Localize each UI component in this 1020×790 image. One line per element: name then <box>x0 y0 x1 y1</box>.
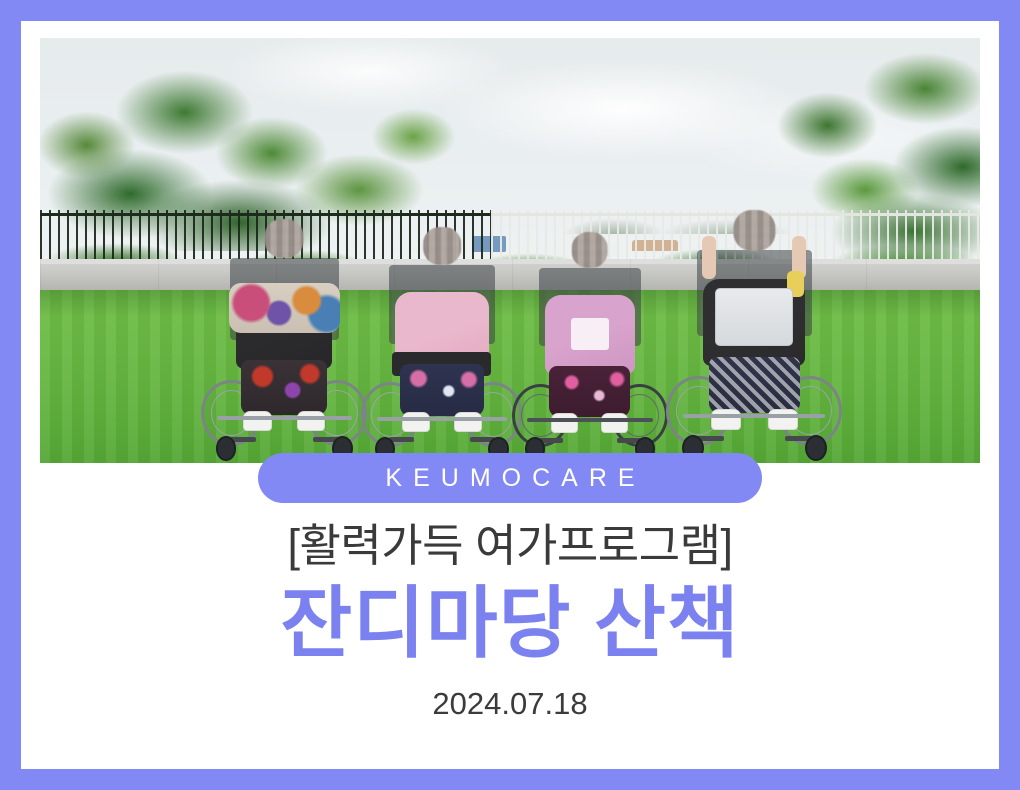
person-shoe-left <box>402 412 430 432</box>
photo-scene <box>40 38 980 463</box>
person-legs <box>400 364 483 416</box>
wheelchair-frame <box>527 418 653 422</box>
person-shoe-left <box>243 411 272 432</box>
pixelated-face <box>265 219 304 258</box>
program-title: 잔디마당 산책 <box>21 583 999 665</box>
person-shoe-right <box>454 412 482 432</box>
poster-card: KEUMOCARE [활력가득 여가프로그램] 잔디마당 산책 2024.07.… <box>21 21 999 769</box>
person-legs <box>241 360 327 414</box>
wheelchair-caster-right <box>805 435 827 461</box>
person-shoe-left <box>551 413 578 433</box>
floral-shawl <box>229 283 339 333</box>
person-shoe-right <box>768 409 798 430</box>
pixelated-face <box>734 210 775 251</box>
brand-badge: KEUMOCARE <box>258 453 762 503</box>
person-shoe-right <box>297 411 326 432</box>
wheelchair-frame <box>377 417 507 421</box>
wheelchair-subject-4 <box>670 210 839 461</box>
wheelchair-frame <box>683 414 825 418</box>
person-figure <box>542 232 638 429</box>
wheelchair-subject-2 <box>364 227 519 461</box>
person-figure <box>700 210 808 426</box>
person-legs <box>709 357 800 413</box>
fence-rail-top <box>40 213 980 216</box>
program-category: [활력가득 여가프로그램] <box>21 521 999 571</box>
pixelated-face <box>423 227 461 265</box>
wheelchair-frame <box>217 416 351 420</box>
person-shoe-right <box>601 413 628 433</box>
wheelchair-subject-1 <box>205 219 365 461</box>
pixelated-face <box>572 232 609 269</box>
shirt-graphic <box>571 318 610 350</box>
program-photo <box>40 38 980 463</box>
wheelchair-subject-3 <box>515 232 665 462</box>
wheelchair-caster-left <box>216 436 237 461</box>
victory-hand-left <box>702 236 716 279</box>
person-shoe-left <box>711 409 741 430</box>
poster-frame: KEUMOCARE [활력가득 여가프로그램] 잔디마당 산책 2024.07.… <box>0 0 1020 790</box>
program-date: 2024.07.18 <box>21 686 999 722</box>
person-figure <box>233 219 335 427</box>
chest-support-brace <box>715 288 793 346</box>
program-text-block: [활력가득 여가프로그램] 잔디마당 산책 2024.07.18 <box>21 521 999 722</box>
person-legs <box>549 366 630 417</box>
person-figure <box>392 227 491 428</box>
